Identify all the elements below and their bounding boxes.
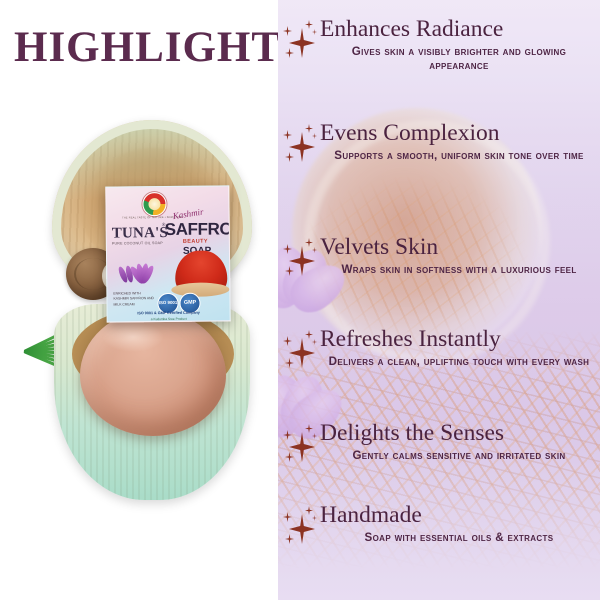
kudumba-line: a Kudumba Sree Product — [108, 316, 230, 321]
certification-line: ISO 9001 & GMP Certified Company — [108, 310, 230, 315]
benefit-heading: Delights the Senses — [320, 420, 504, 446]
sparkle-icon — [282, 20, 322, 66]
product-box: THE REAL TASTE OF NATURE • SINCE 1985 TU… — [105, 185, 230, 322]
saffron-flower-icon — [121, 253, 163, 295]
sparkle-icon — [282, 330, 322, 376]
benefit-subtitle: Gently calms sensitive and irritated ski… — [320, 449, 598, 464]
product-name: SAFFRON — [165, 219, 231, 240]
brand-logo-icon — [142, 192, 166, 216]
benefit-heading: Enhances Radiance — [320, 16, 503, 42]
benefit-heading: Evens Complexion — [320, 120, 500, 146]
benefit-heading: Velvets Skin — [320, 234, 438, 260]
beauty-word: BEAUTY — [183, 239, 208, 245]
benefits-panel: Enhances Radiance Gives skin a visibly b… — [278, 0, 600, 600]
benefit-subtitle: Wraps skin in softness with a luxurious … — [320, 263, 598, 278]
sparkle-icon — [282, 506, 322, 552]
brand-name: TUNA'S — [112, 225, 168, 243]
benefit-heading: Handmade — [320, 502, 422, 528]
left-product-panel: HIGHLIGHTS — [0, 0, 278, 600]
page-title: HIGHLIGHTS — [14, 26, 266, 69]
soap-highlight — [102, 322, 164, 352]
enriched-text: ENRICHED WITH KASHMIR SAFFRON AND MILK C… — [113, 291, 155, 307]
sparkle-icon — [282, 124, 322, 170]
brand-tagline: PURE COCONUT OIL SOAP — [112, 241, 163, 246]
saffron-pile-base — [171, 282, 229, 297]
benefit-subtitle: Gives skin a visibly brighter and glowin… — [320, 45, 598, 75]
sparkle-icon — [282, 238, 322, 284]
benefit-heading: Refreshes Instantly — [320, 326, 501, 352]
sparkle-icon — [282, 424, 322, 470]
highlights-infographic: HIGHLIGHTS — [0, 0, 600, 600]
product-photo: THE REAL TASTE OF NATURE • SINCE 1985 TU… — [18, 108, 268, 528]
benefits-list: Enhances Radiance Gives skin a visibly b… — [278, 0, 600, 600]
benefit-subtitle: Delivers a clean, uplifting touch with e… — [320, 355, 598, 370]
benefit-subtitle: Supports a smooth, uniform skin tone ove… — [320, 149, 598, 164]
benefit-subtitle: Soap with essential oils & extracts — [320, 531, 598, 546]
